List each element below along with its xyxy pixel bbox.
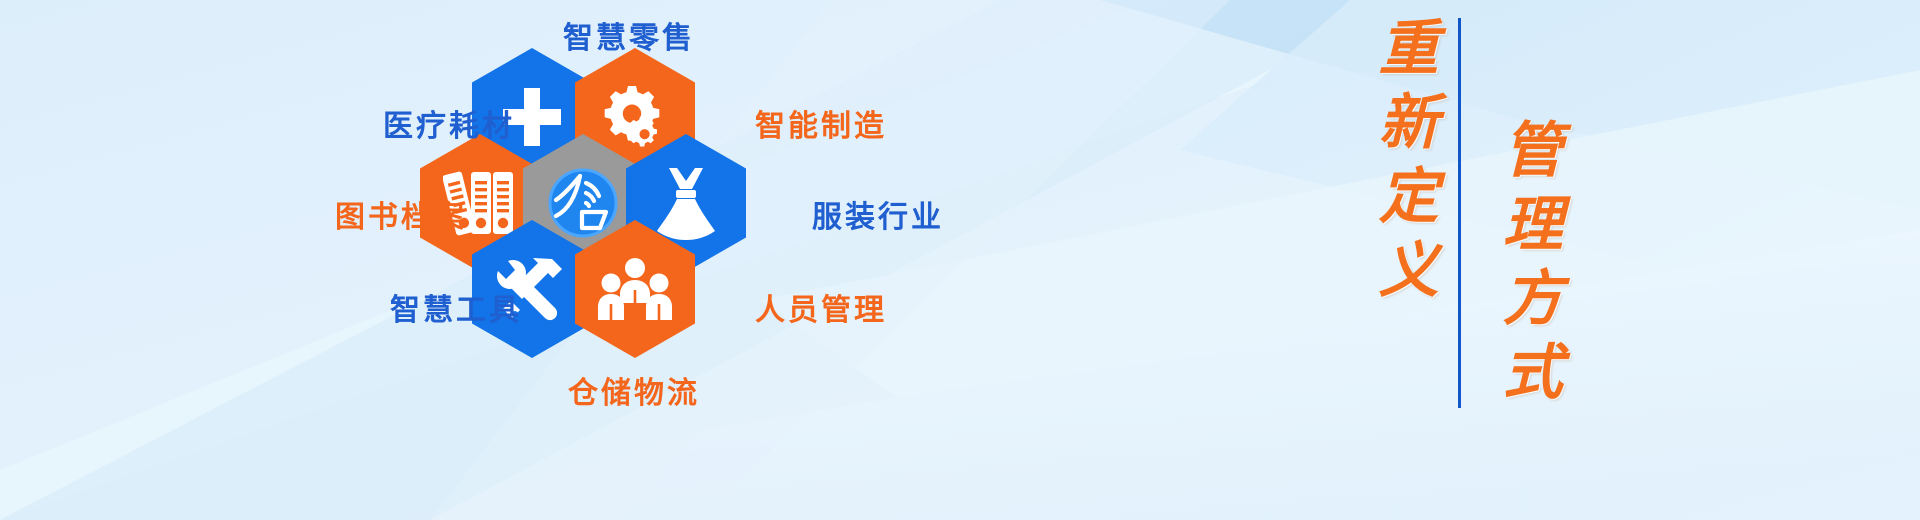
label-retail: 智慧零售 [563, 13, 695, 57]
slogan-right-column: 管理方式 [1490, 118, 1563, 414]
background-facets [0, 0, 1920, 520]
gears-icon [600, 82, 670, 152]
label-manufacturing: 智能制造 [755, 101, 887, 145]
people-group-icon [598, 257, 672, 321]
hexagon-cluster [470, 48, 780, 388]
slogan-left-column: 重新定义 [1366, 16, 1439, 312]
slogan-block: 重新定义 管理方式 [1290, 0, 1620, 520]
rfid-signal-logo-icon [546, 166, 620, 240]
label-apparel: 服装行业 [812, 192, 944, 236]
label-tools: 智慧工具 [390, 285, 522, 329]
banner-root: 智慧零售 医疗耗材 智能制造 图书档案 服装行业 智慧工具 人员管理 仓储物流 … [0, 0, 1920, 520]
label-logistics: 仓储物流 [568, 368, 700, 412]
label-medical: 医疗耗材 [383, 101, 515, 145]
slogan-divider [1458, 18, 1461, 408]
background-shapes-svg [0, 0, 1920, 520]
label-books: 图书档案 [335, 192, 467, 236]
label-people: 人员管理 [755, 285, 887, 329]
dress-icon [653, 166, 719, 240]
